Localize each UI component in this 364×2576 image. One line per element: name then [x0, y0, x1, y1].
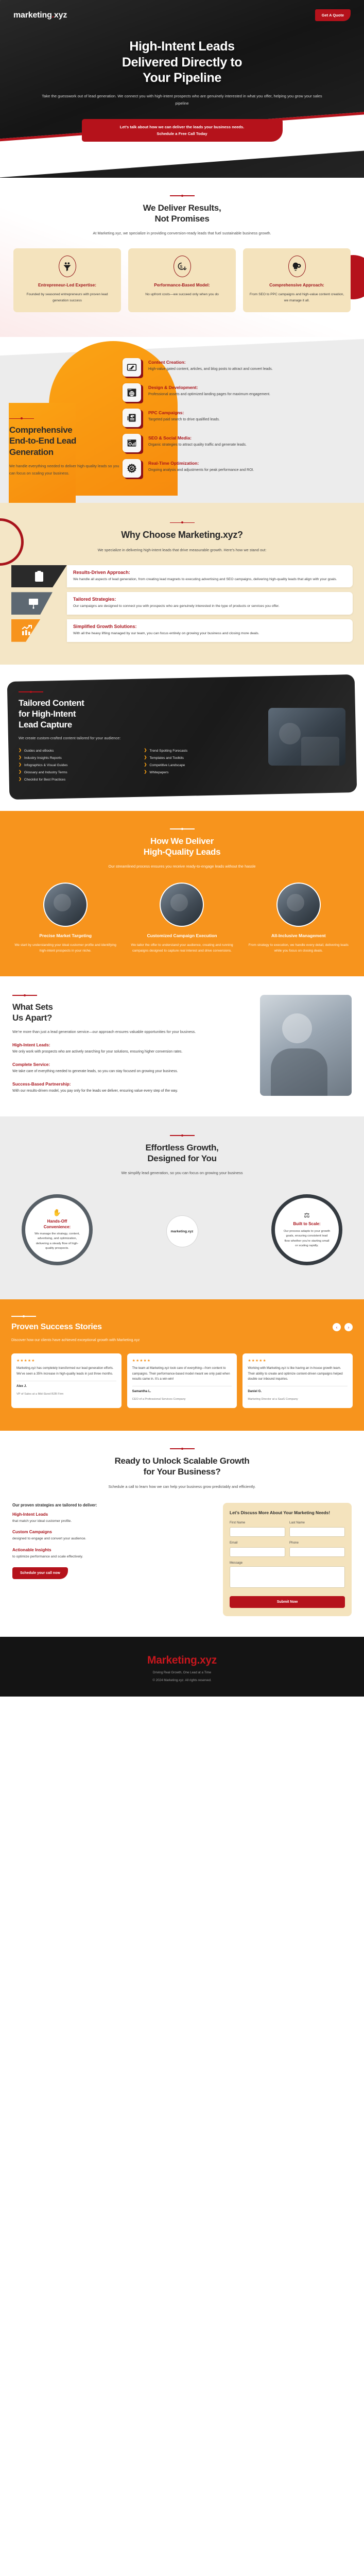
service-title: Real-Time Optimization: — [148, 461, 254, 466]
testimonial-quote: Working with Marketing.xyz is like havin… — [248, 1366, 348, 1382]
hero-title-line-3: Your Pipeline — [143, 71, 221, 85]
service-body: Ongoing analysis and adjustments for pea… — [148, 467, 254, 473]
list-item-label: Infographics & Visual Guides — [24, 763, 68, 768]
section-divider — [11, 1316, 36, 1317]
why-choose-subtitle: We specialize in delivering high-intent … — [11, 547, 353, 554]
final-point: High-Intent Leads that match your ideal … — [12, 1512, 214, 1524]
list-item: ❯Checklist for Best Practices — [19, 777, 137, 782]
final-left-heading: Our proven strategies are tailored to de… — [12, 1503, 214, 1507]
venn-left-circle: ✋ Hands-Off Convenience: We manage the s… — [22, 1194, 93, 1265]
results-title: We Deliver Results, Not Promises — [13, 202, 351, 225]
apart-item-body: We only work with prospects who are acti… — [12, 1049, 252, 1055]
service-title: PPC Campaigns: — [148, 410, 220, 415]
tailored-title: Tailored Content for High-Intent Lead Ca… — [19, 697, 262, 730]
why-choose-title: Why Choose Marketing.xyz? — [11, 529, 353, 541]
results-card-row: Entrepreneur-Led Expertise: Founded by s… — [13, 248, 351, 312]
effortless-title-line-2: Designed for You — [147, 1154, 216, 1163]
chevron-right-icon: ❯ — [19, 770, 22, 774]
apart-lead: We’re more than just a lead generation s… — [12, 1028, 252, 1036]
results-section: We Deliver Results, Not Promises At Mark… — [0, 178, 364, 336]
dollar-arrow-icon: $ — [174, 256, 191, 277]
schedule-call-button[interactable]: Schedule your call now — [12, 1567, 68, 1579]
service-item: Real-Time Optimization: Ongoing analysis… — [125, 461, 355, 479]
hero-body: High-Intent Leads Delivered Directly to … — [0, 21, 364, 142]
carousel-next-button[interactable]: › — [344, 1323, 353, 1331]
deliver-card: Customized Campaign Execution We tailor … — [127, 883, 237, 954]
first-name-label: First Name — [230, 1521, 285, 1524]
tailored-content-section: Tailored Content for High-Intent Lead Ca… — [0, 665, 364, 811]
tailored-checklist: ❯Guides and eBooks ❯Industry Insights Re… — [19, 748, 262, 782]
venn-right-body: Our process adapts to your growth goals,… — [283, 1229, 331, 1249]
service-title: Content Creation: — [148, 360, 273, 365]
email-input[interactable] — [230, 1547, 285, 1557]
megaphone-ad-icon — [125, 410, 143, 429]
hero-cta-line-1: Let’s talk about how we can deliver the … — [91, 125, 273, 129]
contact-form-heading: Let’s Discuss More About Your Marketing … — [230, 1510, 345, 1516]
message-label: Message — [230, 1561, 345, 1565]
hero-cta-banner[interactable]: Let’s talk about how we can deliver the … — [82, 119, 283, 142]
apart-item-title: Complete Service: — [12, 1062, 252, 1067]
tailored-panel: Tailored Content for High-Intent Lead Ca… — [7, 674, 357, 800]
hero-topbar: marketing.xyz Get A Quote — [0, 0, 364, 21]
section-divider — [170, 1448, 195, 1449]
apart-title-line-2: Us Apart? — [12, 1013, 52, 1023]
deliver-card-photo — [43, 883, 88, 927]
final-point-title: Actionable Insights — [12, 1548, 214, 1552]
how-we-deliver-section: How We Deliver High-Quality Leads Our st… — [0, 811, 364, 976]
footer-tagline: Driving Real Growth, One Lead at a Time — [10, 1671, 354, 1674]
apart-item-body: We take care of everything needed to gen… — [12, 1069, 252, 1075]
tailored-lead: We create custom-crafted content tailore… — [19, 735, 262, 742]
scale-icon: ⚖ — [304, 1211, 310, 1219]
apart-item: Success-Based Partnership: With our resu… — [12, 1081, 252, 1094]
content-write-icon — [125, 360, 143, 378]
browser-globe-icon — [125, 385, 143, 403]
tailored-photo-wrap — [268, 691, 345, 783]
service-title: SEO & Social Media: — [148, 435, 247, 440]
logo-suffix: xyz — [54, 11, 67, 20]
chevron-right-icon: ❯ — [19, 748, 22, 752]
end-to-end-section: Comprehensive End-to-End Lead Generation… — [0, 337, 364, 503]
service-body: Organic strategies to attract quality tr… — [148, 442, 247, 448]
funnel-step-title: Results-Driven Approach: — [73, 570, 346, 575]
section-divider — [19, 691, 43, 692]
venn-center-label: marketing.xyz — [167, 1216, 198, 1247]
result-card-title: Performance-Based Model: — [134, 282, 230, 288]
list-item: ❯Guides and eBooks — [19, 748, 137, 753]
list-item: ❯Whitepapers — [144, 770, 263, 775]
final-cta-section: Ready to Unlock Scalable Growth for Your… — [0, 1431, 364, 1637]
final-point-title: Custom Campaigns — [12, 1530, 214, 1534]
landing-page: marketing.xyz Get A Quote High-Intent Le… — [0, 0, 364, 1697]
final-point-body: that match your ideal customer profile. — [12, 1518, 214, 1524]
deliver-card: All-Inclusive Management From strategy t… — [244, 883, 354, 954]
tailored-checklist-column-2: ❯Trend Spotting Forecasts ❯Templates and… — [144, 748, 263, 782]
hero-subtitle: Take the guesswork out of lead generatio… — [36, 93, 328, 108]
funnel-step-shape — [11, 592, 67, 615]
list-item: ❯Trend Spotting Forecasts — [144, 748, 263, 753]
star-rating-icon: ★★★★★ — [16, 1359, 116, 1363]
list-item: ❯Industry Insights Reports — [19, 755, 137, 760]
funnel-step-title: Simplified Growth Solutions: — [73, 624, 346, 629]
list-item-label: Trend Spotting Forecasts — [149, 748, 187, 753]
results-title-line-1: We Deliver Results, — [143, 203, 221, 213]
deliver-card-body: We start by understanding your ideal cus… — [10, 942, 120, 954]
venn-left-title: Hands-Off Convenience: — [33, 1219, 81, 1230]
apart-item: Complete Service: We take care of everyt… — [12, 1062, 252, 1075]
footer-logo: Marketing.xyz — [10, 1654, 354, 1667]
deliver-title: How We Deliver High-Quality Leads — [10, 836, 354, 858]
team-photo — [268, 708, 345, 766]
funnel-step-title: Tailored Strategies: — [73, 597, 346, 602]
stories-carousel-nav: ‹ › — [333, 1323, 353, 1331]
footer-copyright: © 2024 Marketing.xyz. All rights reserve… — [10, 1679, 354, 1682]
end-to-end-title: Comprehensive End-to-End Lead Generation — [9, 425, 119, 457]
testimonial-quote: The team at Marketing.xyz took care of e… — [132, 1366, 232, 1382]
end-to-end-body: We handle everything needed to deliver h… — [9, 463, 119, 478]
result-card: $ Performance-Based Model: No upfront co… — [128, 248, 236, 312]
final-point-body: to optimize performance and scale effect… — [12, 1554, 214, 1560]
hero-title-line-2: Delivered Directly to — [122, 55, 242, 70]
final-points: Our proven strategies are tailored to de… — [12, 1503, 214, 1617]
clipboard-chart-icon — [33, 570, 45, 583]
final-point: Custom Campaigns designed to engage and … — [12, 1530, 214, 1542]
chevron-right-icon: ❯ — [19, 763, 22, 767]
deliver-card-photo — [160, 883, 204, 927]
end-to-end-copy: Comprehensive End-to-End Lead Generation… — [9, 358, 119, 479]
result-card-body: From SEO to PPC campaigns and high-value… — [249, 292, 345, 303]
result-card: Comprehensive Approach: From SEO to PPC … — [243, 248, 351, 312]
testimonial-name: Alex J. — [16, 1384, 116, 1388]
get-a-quote-button[interactable]: Get A Quote — [315, 9, 351, 21]
professional-photo — [260, 995, 352, 1096]
list-item-label: Competitive Landscape — [149, 763, 185, 768]
results-title-line-2: Not Promises — [155, 214, 210, 224]
result-card-body: No upfront costs—we succeed only when yo… — [134, 292, 230, 298]
list-item: ❯Glossary and Industry Terms — [19, 770, 137, 775]
deliver-card-photo — [276, 883, 321, 927]
presentation-growth-icon — [27, 597, 40, 609]
contact-form: Let’s Discuss More About Your Marketing … — [223, 1503, 352, 1617]
final-title-line-1: Ready to Unlock Scalable Growth — [115, 1456, 250, 1466]
chevron-right-icon: ❯ — [19, 777, 22, 782]
list-item-label: Guides and eBooks — [24, 748, 54, 753]
bar-chart-up-icon — [21, 624, 33, 637]
star-rating-icon: ★★★★★ — [248, 1359, 348, 1363]
list-item-label: Whitepapers — [149, 770, 168, 775]
e2e-title-line-3: Generation — [9, 447, 54, 457]
effortless-title: Effortless Growth, Designed for You — [12, 1142, 352, 1164]
venn-right-circle: ⚖ Built to Scale: Our process adapts to … — [271, 1194, 342, 1265]
testimonial-card: ★★★★★ Working with Marketing.xyz is like… — [242, 1353, 353, 1408]
hero-title: High-Intent Leads Delivered Directly to … — [36, 39, 328, 86]
analytics-chart-icon — [125, 435, 143, 454]
service-title: Design & Development: — [148, 385, 270, 390]
effortless-subtitle: We simplify lead generation, so you can … — [12, 1170, 352, 1177]
service-item: Content Creation: High-value gated conte… — [125, 360, 355, 378]
submit-button[interactable]: Submit Now — [230, 1596, 345, 1608]
svg-text:$: $ — [180, 264, 183, 269]
effortless-title-line-1: Effortless Growth, — [146, 1143, 219, 1153]
deliver-card-body: We tailor the offer to understand your a… — [127, 942, 237, 954]
funnel-step: Simplified Growth Solutions: With all th… — [11, 619, 353, 642]
first-name-input[interactable] — [230, 1527, 285, 1537]
funnel-people-icon — [59, 256, 76, 277]
funnel-step: Tailored Strategies: Our campaigns are d… — [11, 592, 353, 615]
result-card-title: Entrepreneur-Led Expertise: — [19, 282, 115, 288]
chevron-right-icon: ❯ — [144, 763, 147, 767]
chevron-right-icon: ❯ — [144, 755, 147, 759]
deliver-card-title: Customized Campaign Execution — [127, 933, 237, 939]
deliver-card: Precise Market Targeting We start by und… — [10, 883, 120, 954]
testimonial-role: Marketing Director at a SaaS Company — [248, 1398, 298, 1401]
funnel-step-shape — [11, 565, 67, 588]
tailored-title-line-1: Tailored Content — [19, 698, 84, 707]
why-choose-section: Why Choose Marketing.xyz? We specialize … — [0, 503, 364, 665]
e2e-title-line-2: End-to-End Lead — [9, 436, 76, 446]
testimonial-role: VP of Sales at a Mid-Sized B2B Firm — [16, 1393, 63, 1396]
apart-title-line-1: What Sets — [12, 1002, 53, 1012]
deliver-card-title: Precise Market Targeting — [10, 933, 120, 939]
deliver-title-line-2: High-Quality Leads — [144, 847, 221, 857]
list-item-label: Checklist for Best Practices — [24, 777, 65, 782]
service-item: PPC Campaigns: Targeted paid search to d… — [125, 410, 355, 429]
section-divider — [170, 1135, 195, 1136]
funnel-step-shape — [11, 619, 67, 642]
ring-decoration — [0, 518, 24, 566]
results-subtitle: At Marketing.xyz, we specialize in provi… — [13, 230, 351, 237]
final-title-line-2: for Your Business? — [144, 1467, 221, 1477]
section-divider — [12, 995, 37, 996]
logo-name: marketing — [13, 11, 52, 20]
apart-item: High-Intent Leads: We only work with pro… — [12, 1042, 252, 1055]
handsoff-icon: ✋ — [53, 1209, 61, 1217]
apart-item-title: High-Intent Leads: — [12, 1042, 252, 1047]
service-body: Professional assets and optimized landin… — [148, 392, 270, 398]
chevron-right-icon: ❯ — [144, 770, 147, 774]
deliver-card-body: From strategy to execution, we handle ev… — [244, 942, 354, 954]
testimonial-name: Samantha L. — [132, 1389, 232, 1393]
section-divider — [9, 418, 34, 419]
list-item-label: Glossary and Industry Terms — [24, 770, 67, 775]
lightbulb-gear-icon — [288, 256, 306, 277]
final-title: Ready to Unlock Scalable Growth for Your… — [12, 1455, 352, 1478]
what-sets-us-apart-section: What Sets Us Apart? We’re more than just… — [0, 976, 364, 1116]
service-body: High-value gated content, articles, and … — [148, 366, 273, 372]
section-divider — [170, 195, 195, 196]
phone-input[interactable] — [289, 1547, 345, 1557]
star-rating-icon: ★★★★★ — [132, 1359, 232, 1363]
apart-title: What Sets Us Apart? — [12, 1002, 252, 1024]
result-card-title: Comprehensive Approach: — [249, 282, 345, 288]
result-card: Entrepreneur-Led Expertise: Founded by s… — [13, 248, 121, 312]
chevron-right-icon: ❯ — [144, 748, 147, 752]
service-item: SEO & Social Media: Organic strategies t… — [125, 435, 355, 454]
testimonial-quote: Marketing.xyz has completely transformed… — [16, 1366, 116, 1377]
list-item: ❯Templates and Toolkits — [144, 755, 263, 760]
stories-lead: Discover how our clients have achieved e… — [11, 1336, 181, 1343]
venn-diagram: ✋ Hands-Off Convenience: We manage the s… — [12, 1188, 352, 1276]
service-item: Design & Development: Professional asset… — [125, 385, 355, 403]
tailored-title-line-2: for High-Intent — [19, 708, 76, 718]
last-name-label: Last Name — [289, 1521, 345, 1524]
list-item-label: Templates and Toolkits — [149, 755, 184, 760]
list-item: ❯Infographics & Visual Guides — [19, 763, 137, 768]
service-body: Targeted paid search to drive qualified … — [148, 417, 220, 423]
success-stories-section: Proven Success Stories Discover how our … — [0, 1299, 364, 1431]
phone-label: Phone — [289, 1541, 345, 1545]
message-input[interactable] — [230, 1566, 345, 1588]
e2e-title-line-1: Comprehensive — [9, 425, 72, 435]
apart-item-title: Success-Based Partnership: — [12, 1081, 252, 1087]
apart-copy: What Sets Us Apart? We’re more than just… — [12, 995, 252, 1096]
funnel-step-body: Our campaigns are designed to connect yo… — [73, 603, 346, 609]
result-card-body: Founded by seasoned entrepreneurs with p… — [19, 292, 115, 303]
funnel-step: Results-Driven Approach: We handle all a… — [11, 565, 353, 588]
email-label: Email — [230, 1541, 285, 1545]
tailored-title-line-3: Lead Capture — [19, 719, 72, 729]
final-point-title: High-Intent Leads — [12, 1512, 214, 1517]
last-name-input[interactable] — [289, 1527, 345, 1537]
service-list: Content Creation: High-value gated conte… — [125, 358, 355, 479]
final-point-body: designed to engage and convert your audi… — [12, 1536, 214, 1542]
deliver-card-row: Precise Market Targeting We start by und… — [10, 883, 354, 954]
section-divider — [170, 522, 195, 523]
hero-cta-line-2: Schedule a Free Call Today — [91, 131, 273, 136]
section-divider — [170, 828, 195, 829]
deliver-title-line-1: How We Deliver — [150, 836, 214, 846]
apart-photo-wrap — [260, 995, 352, 1096]
carousel-prev-button[interactable]: ‹ — [333, 1323, 341, 1331]
testimonial-row: ★★★★★ Marketing.xyz has completely trans… — [11, 1353, 353, 1408]
tailored-checklist-column-1: ❯Guides and eBooks ❯Industry Insights Re… — [19, 748, 137, 782]
apart-item-body: With our results-driven model, you pay o… — [12, 1088, 252, 1094]
hero-title-line-1: High-Intent Leads — [129, 39, 234, 54]
deliver-card-title: All-Inclusive Management — [244, 933, 354, 939]
list-item: ❯Competitive Landscape — [144, 763, 263, 768]
venn-left-body: We manage the strategy, content, adverti… — [33, 1232, 81, 1251]
funnel-step-body: With all the heavy lifting managed by ou… — [73, 631, 346, 637]
final-subtitle: Schedule a call to learn how we can help… — [61, 1483, 303, 1490]
hero-section: marketing.xyz Get A Quote High-Intent Le… — [0, 0, 364, 178]
testimonial-role: CEO of a Professional Services Company — [132, 1398, 186, 1401]
stories-title: Proven Success Stories — [11, 1323, 353, 1332]
chevron-right-icon: ❯ — [19, 755, 22, 759]
final-point: Actionable Insights to optimize performa… — [12, 1548, 214, 1560]
venn-right-title: Built to Scale: — [293, 1222, 320, 1227]
site-footer: Marketing.xyz Driving Real Growth, One L… — [0, 1637, 364, 1697]
testimonial-name: Daniel G. — [248, 1389, 348, 1393]
list-item-label: Industry Insights Reports — [24, 755, 62, 760]
testimonial-card: ★★★★★ The team at Marketing.xyz took car… — [127, 1353, 237, 1408]
testimonial-card: ★★★★★ Marketing.xyz has completely trans… — [11, 1353, 122, 1408]
funnel-list: Results-Driven Approach: We handle all a… — [11, 565, 353, 642]
site-logo[interactable]: marketing.xyz — [13, 11, 67, 20]
effortless-growth-section: Effortless Growth, Designed for You We s… — [0, 1116, 364, 1299]
deliver-subtitle: Our streamlined process ensures you rece… — [10, 863, 354, 870]
gear-speedometer-icon — [125, 461, 143, 479]
funnel-step-body: We handle all aspects of lead generation… — [73, 577, 346, 583]
